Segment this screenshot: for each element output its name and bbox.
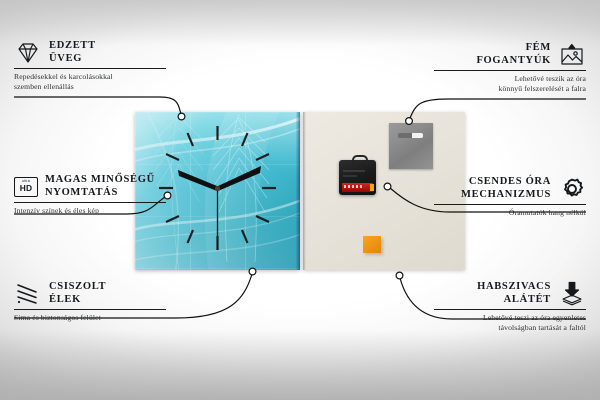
infographic-canvas: EDZETT ÜVEG Repedésekkel és karcolásokka… (0, 0, 600, 400)
feature-title: MAGAS MINŐSÉGŰ NYOMTATÁS (45, 174, 155, 199)
feature-title: CSISZOLT ÉLEK (49, 281, 106, 306)
foam-pad-icon (558, 281, 586, 306)
picture-hanger-icon (558, 43, 586, 67)
feature-title: HABSZIVACS ALÁTÉT (477, 281, 551, 306)
feature-divider (14, 202, 166, 203)
mechanism-detail-line (343, 170, 365, 172)
feature-description: Óramutatók hang nélkül (434, 208, 586, 218)
feature-heading: FÉM FOGANTYÚK (434, 42, 586, 67)
mechanism-detail-line-2 (343, 175, 357, 177)
clock-minute-hand (218, 166, 261, 191)
feature-description: Sima és biztonságos felület (14, 313, 166, 323)
feature-heading: ultra HD MAGAS MINŐSÉGŰ NYOMTATÁS (14, 174, 166, 199)
feature-heading: CSISZOLT ÉLEK (14, 281, 166, 306)
feature-polished-edges: CSISZOLT ÉLEK Sima és biztonságos felüle… (14, 281, 166, 323)
feature-description: Intenzív színek és éles kép (14, 206, 166, 216)
clock-center-cap (215, 186, 220, 191)
feature-heading: HABSZIVACS ALÁTÉT (434, 281, 586, 306)
diamond-icon (14, 41, 42, 65)
battery-label (344, 185, 364, 188)
polished-edges-icon (14, 282, 42, 306)
feature-divider (434, 309, 586, 310)
feature-title: CSENDES ÓRA MECHANIZMUS (461, 176, 551, 201)
feature-metal-handles: FÉM FOGANTYÚK Lehetővé teszik az óra kön… (434, 42, 586, 94)
foam-pad (363, 236, 381, 253)
mechanism-hanging-loop (352, 155, 368, 165)
feature-divider (434, 70, 586, 71)
feature-description: Lehetővé teszi az óra egyenletes távolsá… (434, 313, 586, 333)
metal-hanger-bracket (389, 123, 433, 169)
feature-heading: EDZETT ÜVEG (14, 40, 166, 65)
clock-hour-hand (178, 170, 217, 191)
hd-label: HD (20, 184, 33, 192)
battery-terminal (370, 184, 374, 191)
clock-mechanism-box (339, 160, 376, 195)
feature-high-quality-print: ultra HD MAGAS MINŐSÉGŰ NYOMTATÁS Intenz… (14, 174, 166, 216)
background-bottom-shade (0, 330, 600, 400)
feature-title: EDZETT ÜVEG (49, 40, 96, 65)
feature-title: FÉM FOGANTYÚK (476, 42, 551, 67)
hanger-slot (398, 133, 423, 138)
feature-heading: CSENDES ÓRA MECHANIZMUS (434, 176, 586, 201)
feature-divider (14, 68, 166, 69)
product-image (135, 112, 465, 270)
feature-tempered-glass: EDZETT ÜVEG Repedésekkel és karcolásokka… (14, 40, 166, 92)
back-panel-edge (303, 112, 306, 270)
feature-silent-mechanism: CSENDES ÓRA MECHANIZMUS Óramutatók hang … (434, 176, 586, 218)
ultra-hd-icon: ultra HD (14, 177, 38, 197)
gear-icon (558, 177, 586, 201)
feature-description: Lehetővé teszik az óra könnyű felszerelé… (434, 74, 586, 94)
battery (342, 183, 373, 192)
feature-divider (434, 204, 586, 205)
feature-foam-backing: HABSZIVACS ALÁTÉT Lehetővé teszi az óra … (434, 281, 586, 333)
feature-divider (14, 309, 166, 310)
feature-description: Repedésekkel és karcolásokkal szemben el… (14, 72, 166, 92)
